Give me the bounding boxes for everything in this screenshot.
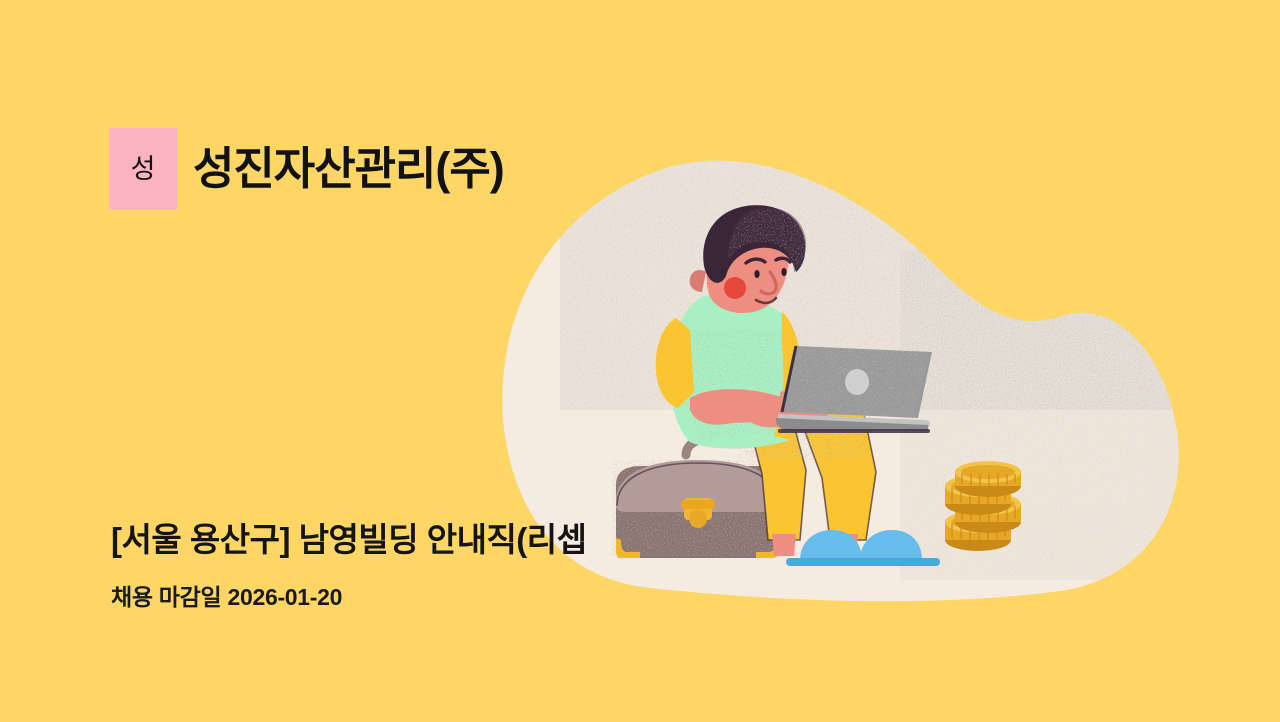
laptop-icon (776, 346, 938, 433)
job-title: [서울 용산구] 남영빌딩 안내직(리셉 (111, 519, 587, 560)
company-logo-badge: 성 (109, 128, 177, 210)
illustration-man-with-laptop (0, 0, 1280, 722)
card-footer: [서울 용산구] 남영빌딩 안내직(리셉 채용 마감일 2026-01-20 (111, 519, 587, 612)
card-header: 성 성진자산관리(주) (109, 128, 504, 210)
job-posting-card: 성 성진자산관리(주) [서울 용산구] 남영빌딩 안내직(리셉 채용 마감일 … (0, 0, 1280, 722)
company-logo-initial: 성 (131, 156, 156, 183)
application-deadline: 채용 마감일 2026-01-20 (111, 578, 587, 612)
company-name: 성진자산관리(주) (193, 145, 504, 192)
coin-stack-icon (945, 461, 1021, 551)
